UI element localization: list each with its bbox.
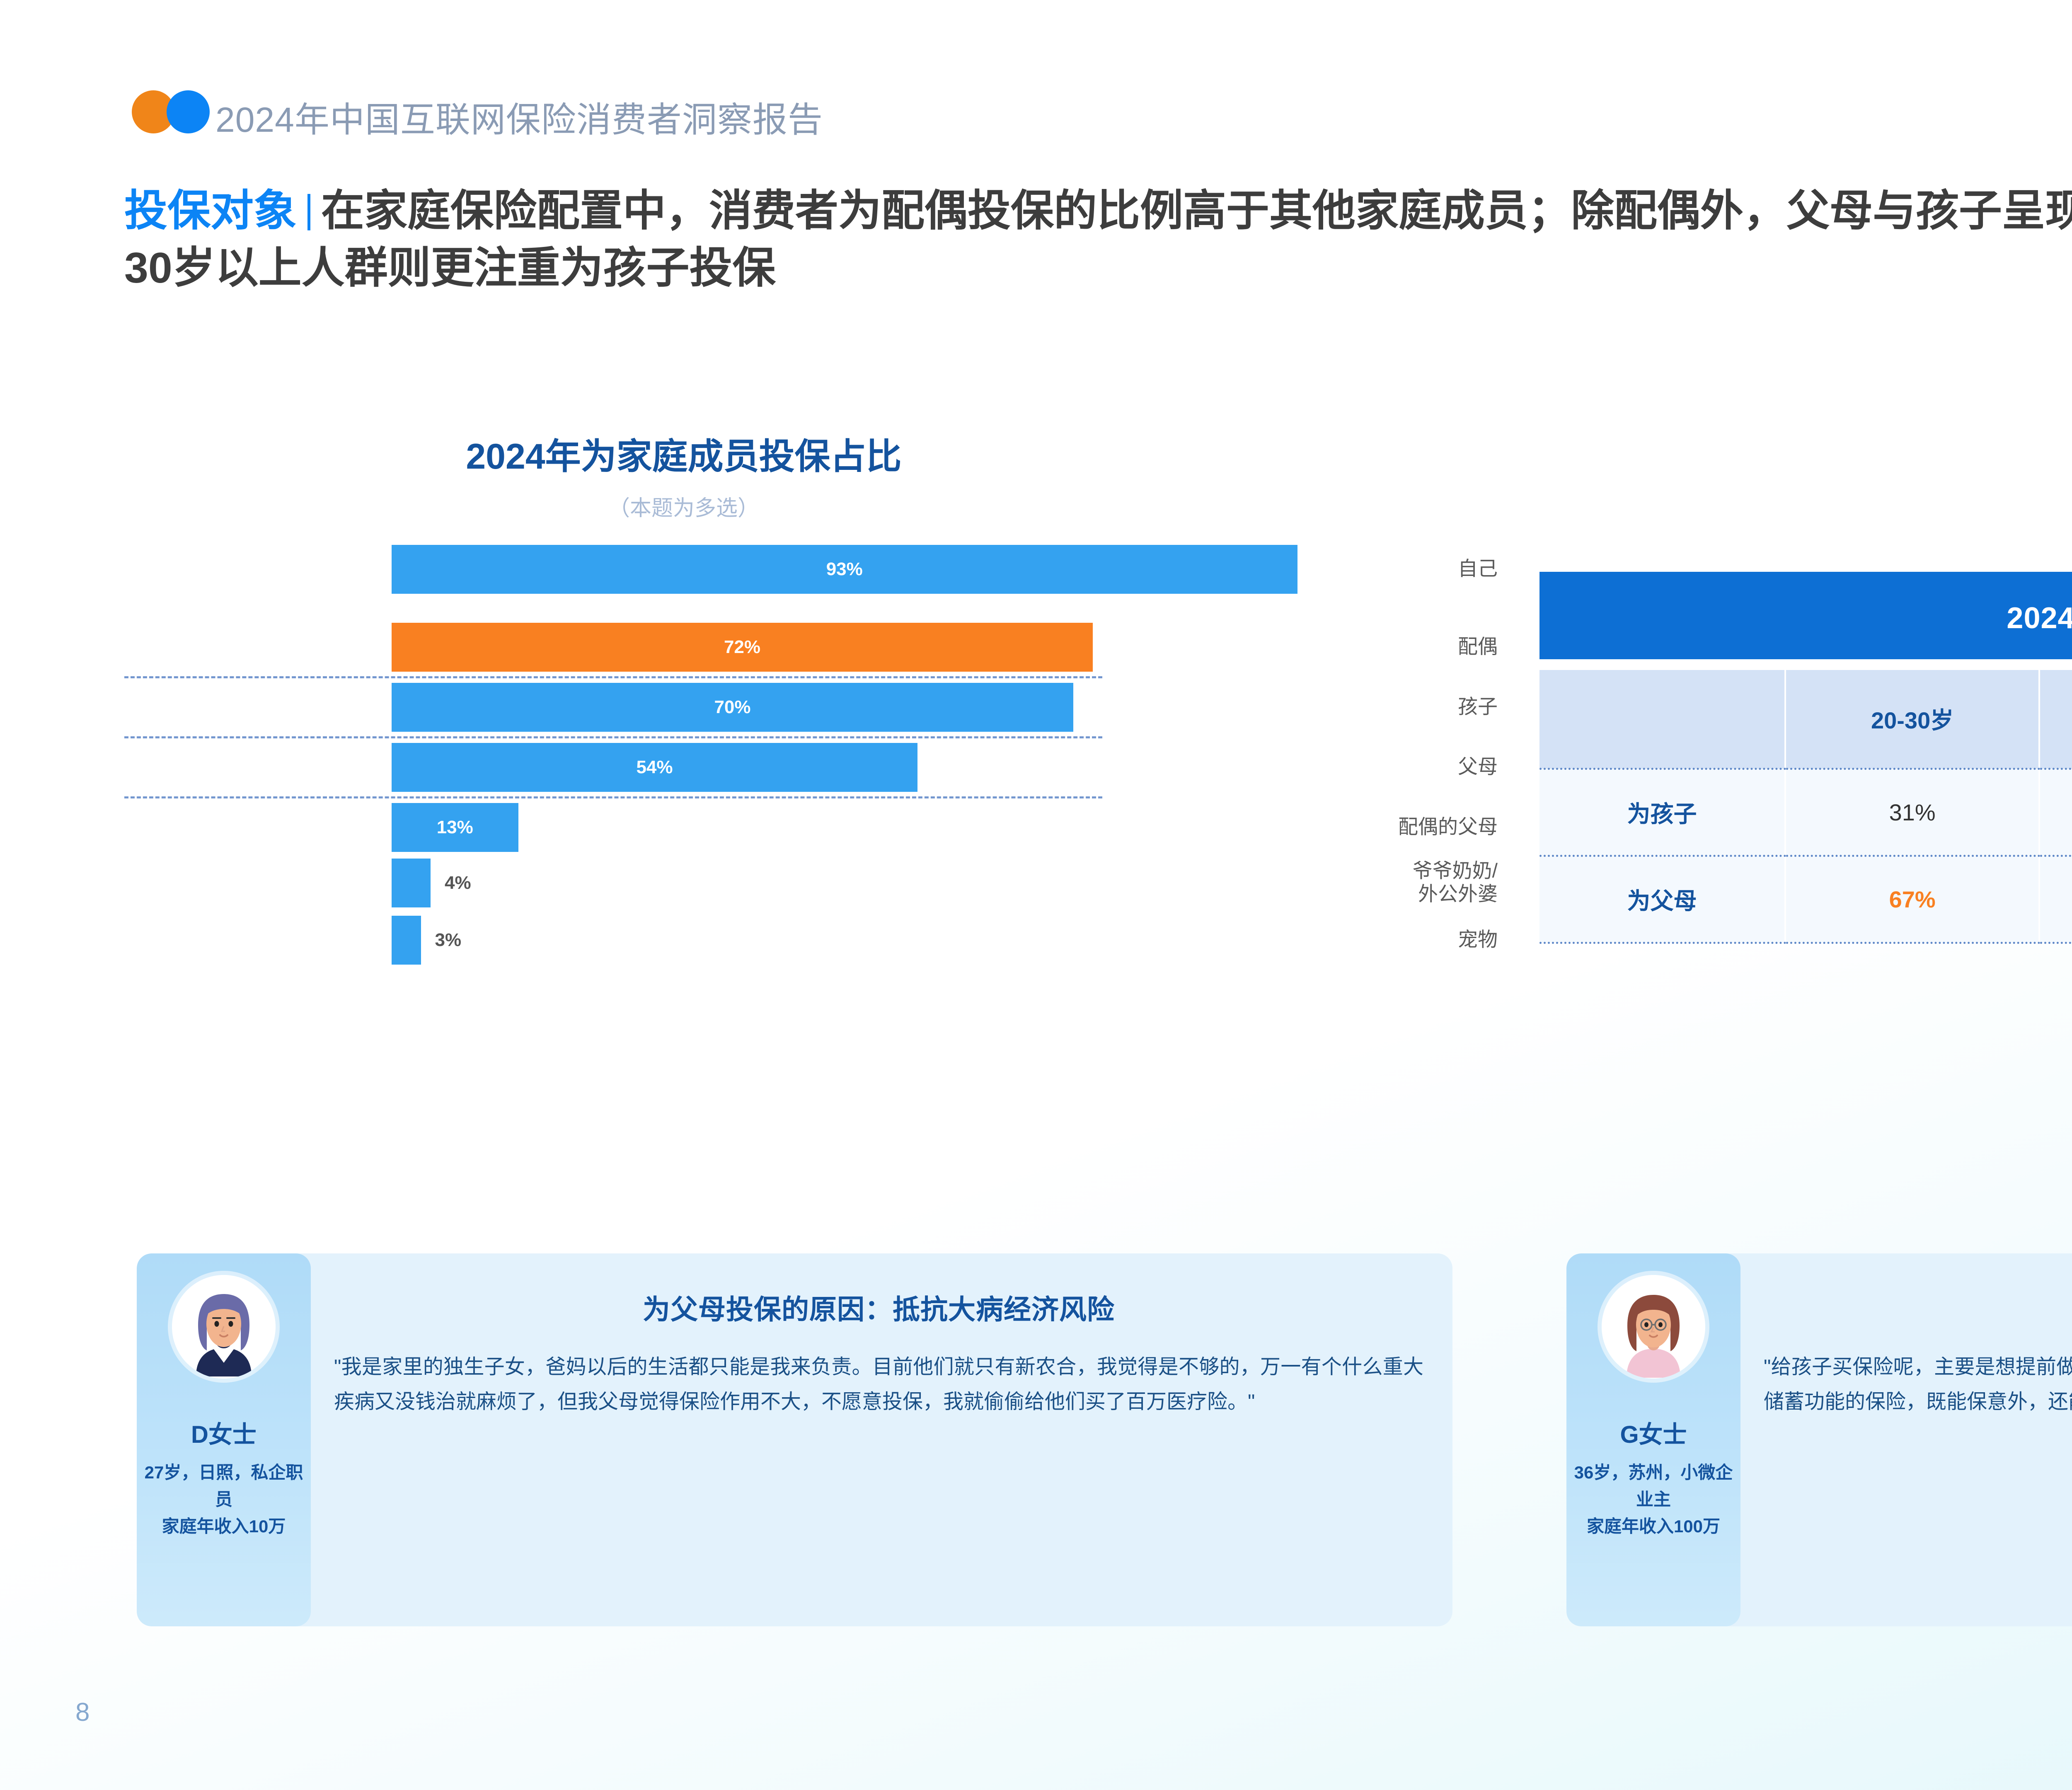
table-row-label: 为父母 — [1539, 856, 1785, 943]
logo-dot-blue — [167, 90, 210, 133]
table-cell: 67% — [1785, 856, 2039, 943]
testimonial-card-parents: D女士 27岁，日照，私企职员 家庭年收入10万 为父母投保的原因：抵抗大病经济… — [137, 1253, 1452, 1626]
card-quote: "给孩子买保险呢，主要是想提前做好风险管理和财务规划，10岁小男孩正是活泼好动的… — [1764, 1350, 2072, 1420]
bar-row: 自己93% — [124, 545, 1513, 594]
bar-row: 配偶72% — [124, 623, 1513, 672]
testimonial-card-children: G女士 36岁，苏州，小微企业主 家庭年收入100万 为孩子投保的原因：风险管理… — [1566, 1253, 2072, 1626]
avatar-woman-entrepreneur-icon — [1602, 1275, 1705, 1379]
card-heading: 为父母投保的原因：抵抗大病经济风险 — [334, 1287, 1423, 1327]
age-group-data-table: 20-30岁31-40岁41-50岁51-60岁60岁及以上为孩子31%76%7… — [1539, 670, 2072, 944]
highlighted-value: 67% — [1889, 886, 1936, 912]
bar — [392, 916, 421, 965]
bar: 54% — [392, 743, 917, 792]
bar-track: 93% — [392, 545, 1297, 594]
table-corner-cell — [1539, 670, 1785, 769]
person-meta-line-1: 36岁，苏州，小微企业主 — [1566, 1459, 1740, 1513]
title-divider-bar — [307, 194, 310, 230]
bar-track: 54% — [392, 743, 917, 792]
page-number: 8 — [75, 1698, 90, 1727]
table-row: 为孩子31%76%78%75%71% — [1539, 769, 2072, 856]
page-title-body: 在家庭保险配置中，消费者为配偶投保的比例高于其他家庭成员；除配偶外，父母与孩子呈… — [124, 187, 2072, 292]
age-group-table: 2024年不同年龄人群为孩子和父母投保占比 20-30岁31-40岁41-50岁… — [1539, 572, 2072, 944]
person-panel: D女士 27岁，日照，私企职员 家庭年收入10万 — [137, 1253, 311, 1626]
table-row-label: 为孩子 — [1539, 769, 1785, 856]
bar-track: 70% — [392, 683, 1073, 732]
bar-row: 宠物3% — [124, 916, 1513, 965]
table-column-header: 20-30岁 — [1785, 670, 2039, 769]
bar-category-label: 配偶的父母 — [1256, 815, 1513, 839]
bar-track — [392, 859, 431, 907]
person-meta: 36岁，苏州，小微企业主 家庭年收入100万 — [1566, 1459, 1740, 1540]
person-panel: G女士 36岁，苏州，小微企业主 家庭年收入100万 — [1566, 1253, 1740, 1626]
table-title: 2024年不同年龄人群为孩子和父母投保占比 — [1539, 572, 2072, 659]
page-title-accent: 投保对象 — [124, 187, 297, 235]
bar-category-label: 配偶 — [1256, 635, 1513, 659]
card-body: 为父母投保的原因：抵抗大病经济风险 "我是家里的独生子女，爸妈以后的生活都只能是… — [311, 1253, 1452, 1626]
avatar — [1602, 1275, 1705, 1379]
bar-value-label: 4% — [445, 873, 471, 893]
bar: 93% — [392, 545, 1297, 594]
bar — [392, 859, 431, 907]
bar-value-label: 3% — [435, 930, 462, 951]
bar-category-label: 父母 — [1256, 755, 1513, 779]
page-header: 2024年中国互联网保险消费者洞察报告 清华大学五道口金融学院 中国保险与养老金… — [0, 0, 2072, 166]
bar-row: 配偶的父母13% — [124, 803, 1513, 852]
bar-track — [392, 916, 421, 965]
bar-group-divider — [124, 736, 1102, 738]
card-quote: "我是家里的独生子女，爸妈以后的生活都只能是我来负责。目前他们就只有新农合，我觉… — [334, 1350, 1423, 1420]
page-title: 投保对象在家庭保险配置中，消费者为配偶投保的比例高于其他家庭成员；除配偶外，父母… — [124, 182, 2072, 297]
person-name: D女士 — [191, 1415, 257, 1450]
bar-row: 父母54% — [124, 743, 1513, 792]
person-meta-line-2: 家庭年收入100万 — [1566, 1513, 1740, 1540]
avatar-woman-businesswoman-icon — [172, 1275, 276, 1379]
bar-group-divider — [124, 676, 1102, 678]
table-cell: 76% — [2039, 769, 2072, 856]
report-brand-text: 2024年中国互联网保险消费者洞察报告 — [215, 92, 823, 142]
bar-category-label: 宠物 — [1256, 928, 1513, 952]
person-name: G女士 — [1620, 1415, 1687, 1450]
bar-category-label: 爷爷奶奶/外公外婆 — [1256, 859, 1513, 906]
card-heading: 为孩子投保的原因：风险管理兼顾财务规划 — [1764, 1287, 2072, 1327]
chart-subtitle: （本题为多选） — [207, 491, 1160, 522]
bar-row: 爷爷奶奶/外公外婆4% — [124, 859, 1513, 907]
table-column-header: 31-40岁 — [2039, 670, 2072, 769]
bar-track: 72% — [392, 623, 1093, 672]
table-header-row: 20-30岁31-40岁41-50岁51-60岁60岁及以上 — [1539, 670, 2072, 769]
bar: 72% — [392, 623, 1093, 672]
bar-list: 自己93%配偶72%孩子70%父母54%配偶的父母13%爷爷奶奶/外公外婆4%宠… — [124, 545, 1513, 965]
bar-track: 13% — [392, 803, 518, 852]
bar-row: 孩子70% — [124, 683, 1513, 732]
person-meta-line-1: 27岁，日照，私企职员 — [137, 1459, 311, 1513]
person-meta: 27岁，日照，私企职员 家庭年收入10万 — [137, 1459, 311, 1540]
table-row: 为父母67%62%48%30%27% — [1539, 856, 2072, 943]
table-cell: 31% — [1785, 769, 2039, 856]
person-meta-line-2: 家庭年收入10万 — [137, 1513, 311, 1540]
bar: 70% — [392, 683, 1073, 732]
table-cell: 62% — [2039, 856, 2072, 943]
bar-group-divider — [124, 796, 1102, 798]
chart-title: 2024年为家庭成员投保占比 — [207, 437, 1160, 477]
report-logo-icon — [132, 90, 209, 133]
avatar — [172, 1275, 276, 1379]
bar-category-label: 孩子 — [1256, 695, 1513, 719]
family-insurance-bar-chart: 2024年为家庭成员投保占比 （本题为多选） 自己93%配偶72%孩子70%父母… — [124, 437, 1513, 965]
bar: 13% — [392, 803, 518, 852]
card-body: 为孩子投保的原因：风险管理兼顾财务规划 "给孩子买保险呢，主要是想提前做好风险管… — [1740, 1253, 2072, 1626]
